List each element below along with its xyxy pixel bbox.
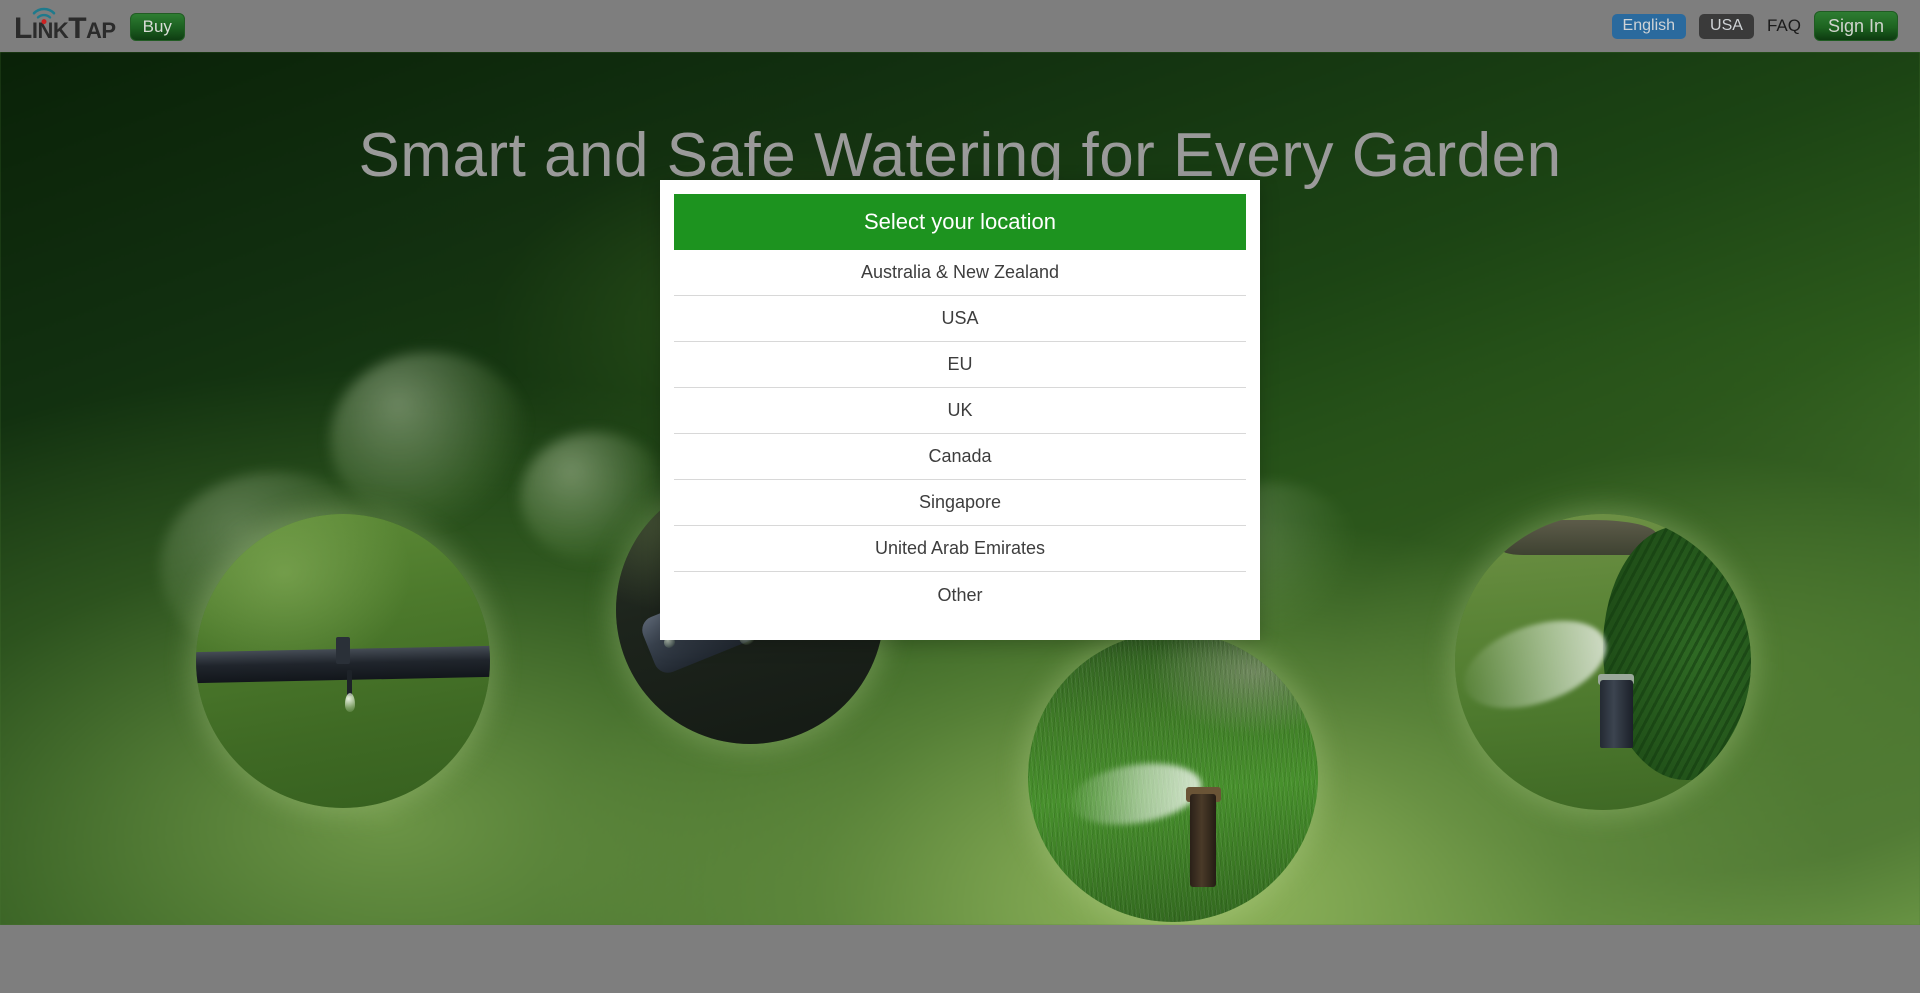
- location-option-singapore[interactable]: Singapore: [674, 480, 1246, 526]
- language-selector[interactable]: English: [1612, 14, 1686, 39]
- location-option-usa[interactable]: USA: [674, 296, 1246, 342]
- water-spray-shape: [1455, 604, 1617, 725]
- navbar-left-group: LINKTAP Buy: [0, 6, 185, 46]
- emitter-nozzle-shape: [336, 637, 351, 663]
- navbar-right-group: English USA FAQ Sign In: [1612, 11, 1920, 41]
- page-bottom-area: [0, 925, 1920, 993]
- location-option-uk[interactable]: UK: [674, 388, 1246, 434]
- location-option-canada[interactable]: Canada: [674, 434, 1246, 480]
- location-selection-modal: Select your location Australia & New Zea…: [660, 180, 1260, 640]
- faq-link[interactable]: FAQ: [1767, 16, 1801, 36]
- lawn-sprinkler-image: [1028, 632, 1318, 922]
- falling-water-drop-shape: [345, 693, 356, 712]
- garden-sprinkler-image: [1455, 514, 1751, 810]
- sprinkler-head-shape: [1190, 794, 1216, 887]
- wifi-icon: [32, 7, 56, 25]
- linktap-logo[interactable]: LINKTAP: [14, 6, 116, 46]
- top-navbar: LINKTAP Buy English USA FAQ Sign In: [0, 0, 1920, 52]
- location-list: Australia & New Zealand USA EU UK Canada…: [660, 250, 1260, 640]
- buy-button[interactable]: Buy: [130, 13, 185, 41]
- drip-emitter-image: [196, 514, 490, 808]
- region-selector[interactable]: USA: [1699, 14, 1754, 39]
- location-option-australia-new-zealand[interactable]: Australia & New Zealand: [674, 250, 1246, 296]
- logo-text: LINKTAP: [14, 14, 116, 46]
- drip-emitter-photo: [196, 514, 490, 808]
- modal-title-bar[interactable]: Select your location: [674, 194, 1246, 250]
- lawn-sprinkler-photo: [1028, 632, 1318, 922]
- location-option-united-arab-emirates[interactable]: United Arab Emirates: [674, 526, 1246, 572]
- page-root: LINKTAP Buy English USA FAQ Sign In Smar…: [0, 0, 1920, 993]
- emitter-stem-shape: [347, 670, 352, 696]
- location-option-eu[interactable]: EU: [674, 342, 1246, 388]
- sign-in-button[interactable]: Sign In: [1814, 11, 1898, 41]
- location-option-other[interactable]: Other: [674, 572, 1246, 618]
- garden-sprinkler-photo: [1455, 514, 1751, 810]
- sprinkler-head-shape: [1600, 680, 1633, 748]
